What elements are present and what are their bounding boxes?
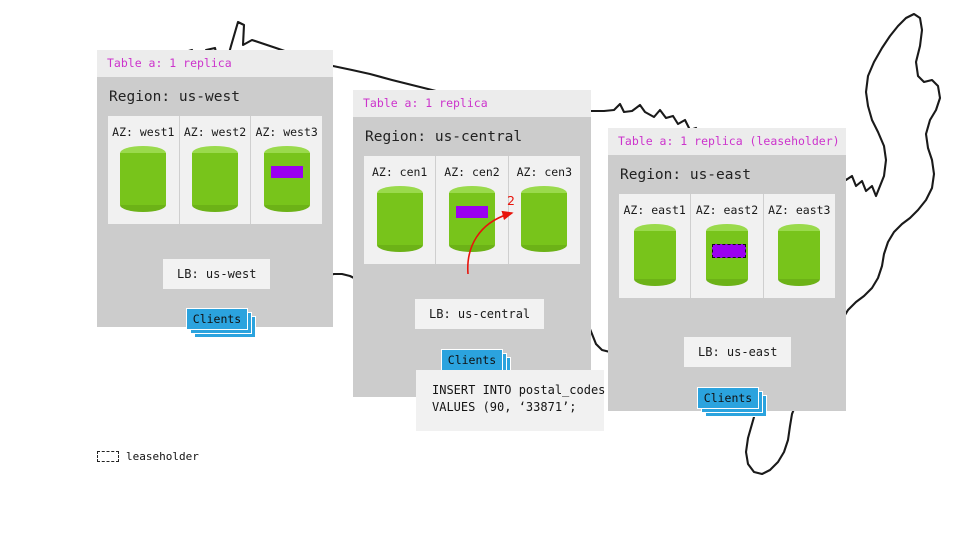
cylinder-body [521,193,567,245]
node-cylinder-cen1[interactable] [377,186,423,252]
panel-title-us-central: Table a: 1 replica [353,90,591,117]
cylinder-body [120,153,166,205]
panel-body-us-east: Region: us-east AZ: east1 AZ: east2 [608,155,846,411]
az-cell-east3[interactable]: AZ: east3 [763,194,835,298]
az-cell-west1[interactable]: AZ: west1 [108,116,179,224]
node-cylinder-west1[interactable] [120,146,166,212]
node-cylinder-east1[interactable] [634,224,676,286]
az-label-cen3: AZ: cen3 [509,165,580,179]
az-cell-west3[interactable]: AZ: west3 [250,116,322,224]
node-cylinder-west3[interactable] [264,146,310,212]
az-row-us-east: AZ: east1 AZ: east2 [619,194,835,298]
az-row-us-central: AZ: cen1 AZ: cen2 [364,156,580,264]
az-label-west1: AZ: west1 [108,125,179,139]
clients-label-us-central: Clients [441,349,503,371]
node-cylinder-east2[interactable] [706,224,748,286]
az-label-cen2: AZ: cen2 [436,165,507,179]
az-label-west2: AZ: west2 [180,125,251,139]
legend-leaseholder: leaseholder [97,450,199,463]
az-label-cen1: AZ: cen1 [364,165,435,179]
panel-title-us-west: Table a: 1 replica [97,50,333,77]
clients-label-us-west: Clients [186,308,248,330]
az-cell-west2[interactable]: AZ: west2 [179,116,251,224]
arrow-step-label-2: 2 [507,193,515,208]
legend-label: leaseholder [126,450,199,463]
range-leaseholder-east2 [712,244,746,258]
az-cell-cen2[interactable]: AZ: cen2 [435,156,507,264]
clients-stack-us-west[interactable]: Clients [186,308,248,330]
az-label-east1: AZ: east1 [619,203,690,217]
cylinder-body [377,193,423,245]
cylinder-body [634,231,676,279]
cylinder-body [264,153,310,205]
region-label-us-west: Region: us-west [97,77,333,116]
load-balancer-us-west[interactable]: LB: us-west [163,259,270,289]
diagram-canvas: Table a: 1 replica Region: us-west AZ: w… [0,0,960,540]
load-balancer-us-east[interactable]: LB: us-east [684,337,791,367]
region-panel-us-west: Table a: 1 replica Region: us-west AZ: w… [97,50,333,327]
panel-body-us-west: Region: us-west AZ: west1 AZ: west2 [97,77,333,327]
clients-stack-us-central[interactable]: Clients [441,349,503,371]
cylinder-body [778,231,820,279]
node-cylinder-cen2[interactable] [449,186,495,252]
leaseholder-swatch-icon [97,451,119,462]
az-cell-cen1[interactable]: AZ: cen1 [364,156,435,264]
clients-label-us-east: Clients [697,387,759,409]
load-balancer-us-central[interactable]: LB: us-central [415,299,544,329]
cylinder-body [449,193,495,245]
node-cylinder-east3[interactable] [778,224,820,286]
az-label-east3: AZ: east3 [764,203,835,217]
az-cell-cen3[interactable]: AZ: cen3 [508,156,580,264]
panel-body-us-central: Region: us-central AZ: cen1 AZ: cen2 [353,117,591,397]
az-cell-east2[interactable]: AZ: east2 [690,194,762,298]
az-cell-east1[interactable]: AZ: east1 [619,194,690,298]
node-cylinder-cen3[interactable] [521,186,567,252]
region-panel-us-central: Table a: 1 replica Region: us-central AZ… [353,90,591,397]
az-label-west3: AZ: west3 [251,125,322,139]
region-panel-us-east: Table a: 1 replica (leaseholder) Region:… [608,128,846,411]
region-label-us-central: Region: us-central [353,117,591,156]
node-cylinder-west2[interactable] [192,146,238,212]
range-replica-west3 [271,166,303,178]
az-row-us-west: AZ: west1 AZ: west2 AZ [108,116,322,224]
region-label-us-east: Region: us-east [608,155,846,194]
panel-title-us-east: Table a: 1 replica (leaseholder) [608,128,846,155]
cylinder-body [192,153,238,205]
range-replica-cen2 [456,206,488,218]
sql-statement-box: INSERT INTO postal_codes VALUES (90, ‘33… [416,370,604,431]
clients-stack-us-east[interactable]: Clients [697,387,759,409]
az-label-east2: AZ: east2 [691,203,762,217]
